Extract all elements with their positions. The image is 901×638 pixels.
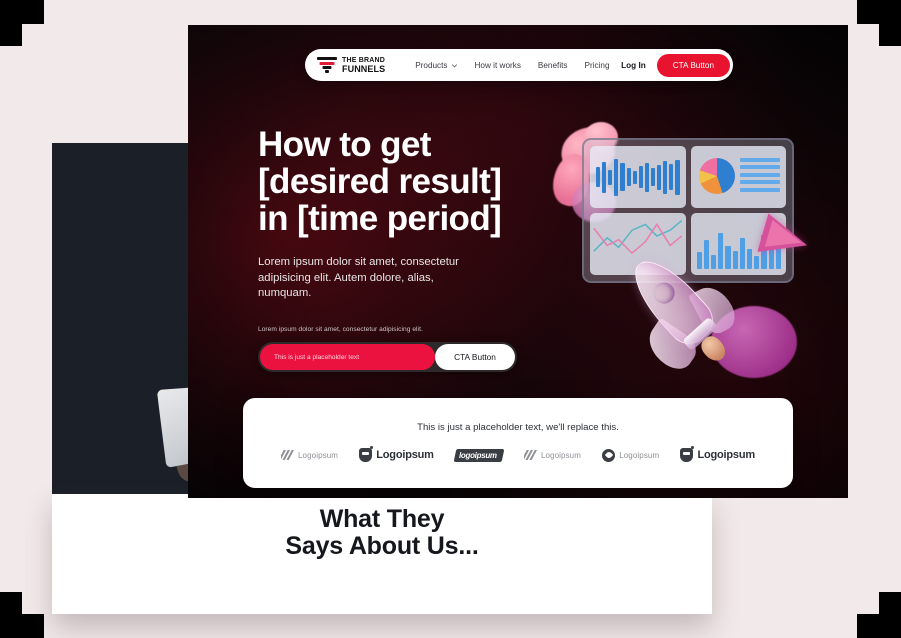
hero-panel: THE BRAND FUNNELS Products How it works … bbox=[188, 25, 848, 498]
pie-chart bbox=[699, 158, 735, 194]
partner-logo-1[interactable]: Logoipsum bbox=[281, 450, 338, 460]
hero-cta-button[interactable]: CTA Button bbox=[435, 344, 515, 370]
hero-subtext: Lorem ipsum dolor sit amet, consectetur … bbox=[258, 255, 490, 302]
corner-bracket-top-left-v bbox=[0, 0, 22, 46]
partner-logo-5-label: Logoipsum bbox=[619, 451, 659, 460]
candlestick-bars bbox=[596, 152, 680, 202]
hero-email-input[interactable] bbox=[260, 344, 435, 370]
logo-strip-card: This is just a placeholder text, we'll r… bbox=[243, 398, 793, 488]
testimonials-card: What They Says About Us... bbox=[52, 494, 712, 614]
shield-icon bbox=[680, 448, 693, 462]
partner-logo-4[interactable]: Logoipsum bbox=[524, 450, 581, 460]
partner-logo-6-label: Logoipsum bbox=[697, 449, 754, 461]
nav-right-actions: Log In CTA Button bbox=[621, 54, 733, 77]
brand-line2: FUNNELS bbox=[342, 65, 385, 74]
logo-strip-caption: This is just a placeholder text, we'll r… bbox=[243, 398, 793, 433]
nav-item-benefits[interactable]: Benefits bbox=[538, 61, 568, 70]
testimonials-title-line1: What They bbox=[52, 506, 712, 533]
nav-item-products[interactable]: Products bbox=[415, 61, 457, 70]
partner-logo-3-label: logoipsum bbox=[459, 451, 497, 460]
partner-logo-5[interactable]: Logoipsum bbox=[602, 449, 659, 462]
testimonials-title-line2: Says About Us... bbox=[52, 533, 712, 560]
stripes-icon bbox=[524, 450, 537, 460]
partner-logo-3[interactable]: logoipsum bbox=[455, 449, 503, 462]
brand-logo[interactable]: THE BRAND FUNNELS bbox=[305, 57, 385, 74]
navbar: THE BRAND FUNNELS Products How it works … bbox=[305, 49, 733, 81]
hero-copy: How to get [desired result] in [time per… bbox=[258, 126, 558, 372]
partner-logo-1-label: Logoipsum bbox=[298, 451, 338, 460]
nav-item-pricing[interactable]: Pricing bbox=[585, 61, 610, 70]
candlestick-chart-panel bbox=[590, 146, 686, 208]
chevron-down-icon bbox=[451, 62, 458, 69]
partner-logo-4-label: Logoipsum bbox=[541, 451, 581, 460]
partner-logo-2-label: Logoipsum bbox=[376, 449, 433, 461]
partner-logo-6[interactable]: Logoipsum bbox=[680, 448, 754, 462]
pie-legend-lines bbox=[740, 158, 780, 192]
analytics-dashboard-3d-illustration bbox=[556, 120, 816, 380]
hero-signup-form: CTA Button bbox=[258, 342, 517, 372]
corner-bracket-bottom-right-v bbox=[879, 592, 901, 638]
shield-icon bbox=[359, 448, 372, 462]
hero-micro-label: Lorem ipsum dolor sit amet, consectetur … bbox=[258, 326, 558, 333]
login-link[interactable]: Log In bbox=[621, 61, 646, 70]
funnel-logo-icon bbox=[317, 57, 337, 73]
hero-headline-line3: in [time period] bbox=[258, 199, 501, 238]
hero-headline-line1: How to get bbox=[258, 125, 431, 164]
nav-links: Products How it works Benefits Pricing bbox=[415, 61, 609, 70]
stripes-icon bbox=[281, 450, 294, 460]
corner-bracket-top-right-v bbox=[879, 0, 901, 46]
slant-box-icon: logoipsum bbox=[454, 449, 505, 462]
partner-logo-2[interactable]: Logoipsum bbox=[359, 448, 433, 462]
circle-flower-icon bbox=[602, 449, 615, 462]
hero-headline-line2: [desired result] bbox=[258, 162, 501, 201]
nav-item-products-label: Products bbox=[415, 61, 447, 70]
logo-strip-logos: Logoipsum Logoipsum logoipsum Logoipsum … bbox=[243, 433, 793, 462]
hero-headline: How to get [desired result] in [time per… bbox=[258, 126, 558, 237]
nav-cta-button[interactable]: CTA Button bbox=[657, 54, 730, 77]
pie-chart-panel bbox=[691, 146, 787, 208]
nav-item-how-it-works[interactable]: How it works bbox=[475, 61, 521, 70]
brand-line1: THE BRAND bbox=[342, 57, 385, 64]
testimonials-heading-wrap: What They Says About Us... bbox=[52, 494, 712, 559]
corner-bracket-bottom-left-v bbox=[0, 592, 22, 638]
brand-text: THE BRAND FUNNELS bbox=[342, 57, 385, 74]
